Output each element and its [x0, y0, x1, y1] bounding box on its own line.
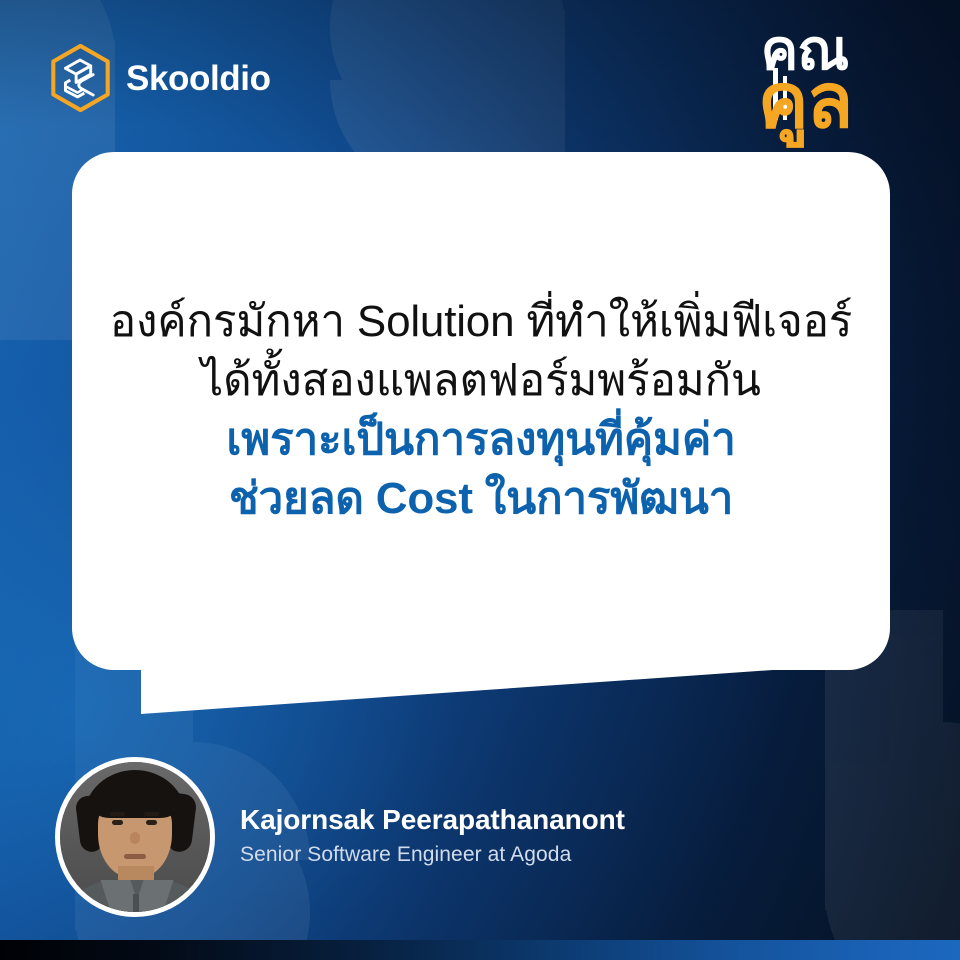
quote-line-3: เพราะเป็นการลงทุนที่คุ้มค่า [106, 411, 856, 470]
quote-card: องค์กรมักหา Solution ที่ทำให้เพิ่มฟีเจอร… [72, 152, 890, 670]
brand-logo: Skooldio [49, 44, 271, 112]
quote-line-4: ช่วยลด Cost ในการพัฒนา [106, 470, 856, 529]
speaker-role: Senior Software Engineer at Agoda [240, 844, 625, 865]
footer-bar [0, 940, 960, 960]
avatar [55, 757, 215, 917]
speaker-block: Kajornsak Peerapathananont Senior Softwa… [55, 757, 625, 917]
speech-bubble-tail [141, 668, 801, 714]
show-logo: คณ คูล [697, 18, 912, 140]
quote-text-block: องค์กรมักหา Solution ที่ทำให้เพิ่มฟีเจอร… [72, 152, 890, 670]
quote-line-2: ได้ทั้งสองแพลตฟอร์มพร้อมกัน [106, 352, 856, 411]
quote-line-1: องค์กรมักหา Solution ที่ทำให้เพิ่มฟีเจอร… [106, 293, 856, 352]
brand-name: Skooldio [126, 61, 271, 96]
show-logo-line-bottom: คูล [697, 64, 912, 140]
social-quote-card: Skooldio คณ คูล องค์กรมักหา Solution ที่… [0, 0, 960, 960]
speaker-name: Kajornsak Peerapathananont [240, 806, 625, 834]
skooldio-hexagon-books-icon [49, 44, 112, 112]
